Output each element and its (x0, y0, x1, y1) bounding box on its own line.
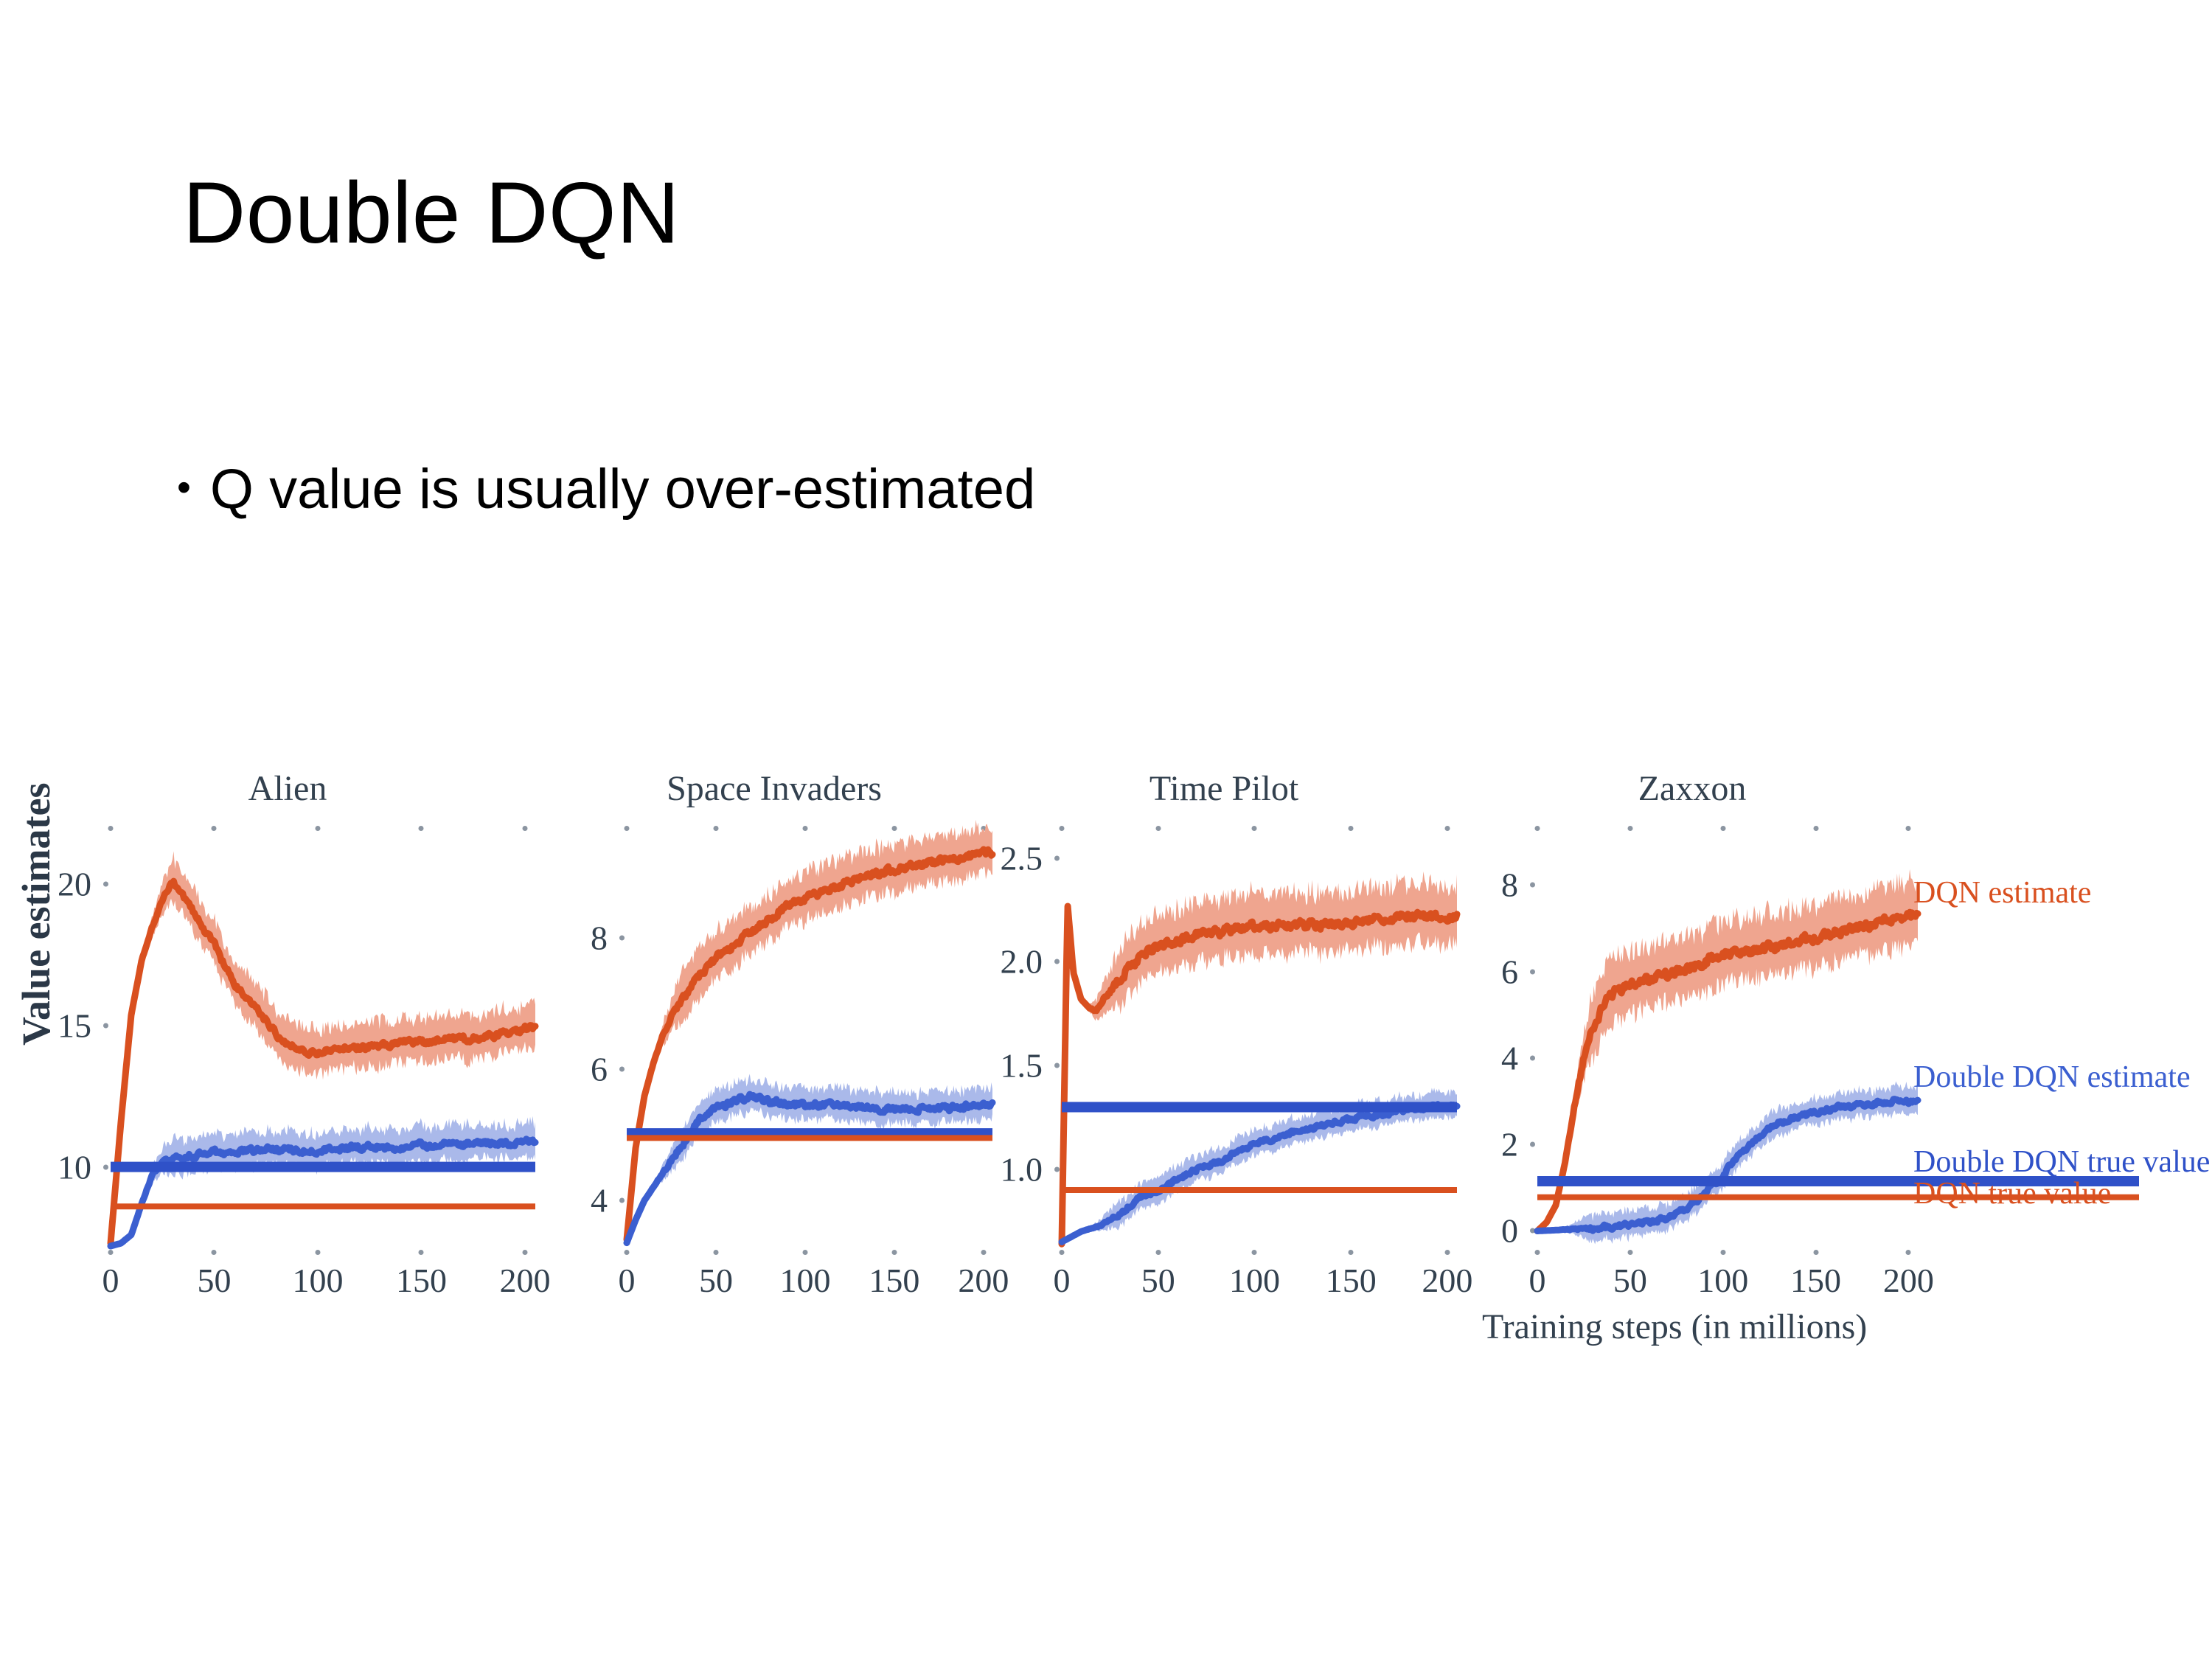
y-tick-label: 8 (591, 919, 608, 958)
x-tick-mark-bottom (522, 1250, 527, 1255)
confidence-band-double_dqn_estimate (627, 1074, 992, 1243)
y-tick-mark (103, 1023, 108, 1028)
x-tick-mark-top (1060, 826, 1065, 831)
x-tick-mark-bottom (1444, 1250, 1450, 1255)
y-tick-mark (1530, 969, 1535, 974)
legend-label-double-dqn-estimate: Double DQN estimate (1913, 1062, 2191, 1093)
y-tick-label: 10 (58, 1147, 91, 1186)
x-tick-mark-bottom (1535, 1250, 1540, 1255)
chart-panel-title: Alien (29, 768, 546, 809)
y-tick-mark (619, 936, 625, 941)
x-tick-label: 0 (102, 1261, 119, 1300)
y-tick-label: 1.5 (1001, 1046, 1043, 1085)
y-tick-label: 2.0 (1001, 942, 1043, 981)
x-tick-mark-bottom (1627, 1250, 1632, 1255)
x-tick-mark-bottom (419, 1250, 424, 1255)
plot-area: 1.01.52.02.5050100150200 (1062, 833, 1457, 1246)
chart-panel-title: Space Invaders (546, 768, 1003, 809)
chart-panel-space-invaders: Space Invaders468050100150200 (546, 752, 1003, 1386)
y-tick-label: 1.0 (1001, 1150, 1043, 1189)
x-tick-label: 150 (1326, 1261, 1377, 1300)
confidence-band-double_dqn_estimate (111, 1116, 535, 1246)
y-tick-mark (103, 1164, 108, 1169)
y-tick-label: 6 (591, 1050, 608, 1089)
x-tick-mark-top (108, 826, 114, 831)
x-tick-mark-top (713, 826, 718, 831)
x-tick-mark-bottom (1252, 1250, 1257, 1255)
plot-curves (111, 833, 535, 1246)
x-tick-mark-bottom (1813, 1250, 1818, 1255)
x-tick-mark-top (1444, 826, 1450, 831)
x-tick-label: 0 (1054, 1261, 1071, 1300)
x-tick-mark-top (891, 826, 897, 831)
x-tick-label: 0 (619, 1261, 636, 1300)
chart-panel-title: Time Pilot (981, 768, 1467, 809)
x-tick-mark-top (1813, 826, 1818, 831)
bullet-item-label: Q value is usually over-estimated (210, 457, 1035, 521)
x-tick-mark-top (522, 826, 527, 831)
x-tick-mark-top (419, 826, 424, 831)
plot-curves (1537, 833, 1918, 1246)
confidence-band-dqn_estimate (111, 851, 535, 1243)
x-tick-label: 200 (1883, 1261, 1934, 1300)
x-tick-mark-top (625, 826, 630, 831)
series-line-double_dqn_estimate (1537, 1099, 1918, 1231)
x-tick-mark-top (1252, 826, 1257, 831)
plot-area: 468050100150200 (627, 833, 992, 1246)
x-tick-mark-bottom (625, 1250, 630, 1255)
plot-area: 101520050100150200 (111, 833, 535, 1246)
plot-curves (627, 833, 992, 1246)
x-tick-mark-top (1627, 826, 1632, 831)
x-tick-mark-bottom (1060, 1250, 1065, 1255)
x-tick-label: 50 (1141, 1261, 1175, 1300)
x-tick-mark-bottom (1720, 1250, 1725, 1255)
legend-label-dqn-estimate: DQN estimate (1913, 877, 2091, 908)
y-tick-mark (103, 882, 108, 887)
y-tick-label: 6 (1501, 952, 1518, 991)
x-tick-label: 0 (1529, 1261, 1546, 1300)
y-tick-mark (1054, 959, 1060, 964)
x-tick-mark-bottom (1906, 1250, 1911, 1255)
x-tick-label: 100 (1697, 1261, 1748, 1300)
y-tick-label: 20 (58, 865, 91, 904)
y-tick-label: 4 (591, 1180, 608, 1220)
chart-panel-time-pilot: Time Pilot1.01.52.02.5050100150200 (981, 752, 1467, 1386)
x-tick-mark-bottom (713, 1250, 718, 1255)
legend-label-double-dqn-true-value: Double DQN true value (1913, 1147, 2210, 1178)
x-tick-mark-top (315, 826, 320, 831)
y-tick-mark (1054, 855, 1060, 860)
plot-curves (1062, 833, 1457, 1246)
y-tick-label: 2 (1501, 1125, 1518, 1164)
x-tick-mark-top (1906, 826, 1911, 831)
x-tick-label: 100 (292, 1261, 343, 1300)
x-tick-label: 100 (779, 1261, 830, 1300)
x-tick-mark-top (1535, 826, 1540, 831)
x-tick-mark-bottom (315, 1250, 320, 1255)
x-tick-label: 150 (396, 1261, 447, 1300)
y-tick-mark (619, 1197, 625, 1203)
chart-panel-title: Zaxxon (1456, 768, 1928, 809)
x-tick-mark-top (212, 826, 217, 831)
x-tick-mark-top (802, 826, 807, 831)
x-tick-label: 150 (869, 1261, 919, 1300)
x-tick-mark-top (1155, 826, 1161, 831)
x-tick-label: 200 (499, 1261, 550, 1300)
confidence-band-dqn_estimate (627, 820, 992, 1239)
x-tick-label: 50 (699, 1261, 733, 1300)
x-tick-mark-top (1349, 826, 1354, 831)
value-estimates-figure: Value estimates Training steps (in milli… (29, 752, 2183, 1416)
bullet-list-item: • Q value is usually over-estimated (177, 457, 1035, 521)
x-tick-mark-bottom (1349, 1250, 1354, 1255)
x-tick-mark-bottom (891, 1250, 897, 1255)
x-tick-mark-bottom (1155, 1250, 1161, 1255)
x-tick-mark-top (1720, 826, 1725, 831)
page-title: Double DQN (183, 168, 680, 260)
chart-panel-alien: Alien101520050100150200 (29, 752, 546, 1386)
y-tick-label: 2.5 (1001, 838, 1043, 877)
y-tick-mark (1054, 1063, 1060, 1068)
y-tick-mark (1530, 1142, 1535, 1147)
x-tick-label: 100 (1229, 1261, 1280, 1300)
chart-panel-zaxxon: Zaxxon02468050100150200 (1456, 752, 1928, 1386)
y-tick-mark (1054, 1166, 1060, 1172)
x-tick-mark-bottom (108, 1250, 114, 1255)
x-tick-mark-bottom (802, 1250, 807, 1255)
legend-label-dqn-true-value: DQN true value (1913, 1178, 2111, 1209)
bullet-marker-icon: • (177, 467, 191, 507)
x-tick-label: 50 (1613, 1261, 1647, 1300)
x-tick-mark-bottom (212, 1250, 217, 1255)
y-tick-label: 8 (1501, 866, 1518, 905)
plot-area: 02468050100150200 (1537, 833, 1918, 1246)
y-tick-mark (1530, 1055, 1535, 1060)
x-tick-label: 50 (197, 1261, 231, 1300)
y-tick-mark (1530, 883, 1535, 888)
y-tick-label: 0 (1501, 1211, 1518, 1251)
y-tick-mark (619, 1067, 625, 1072)
x-tick-label: 150 (1790, 1261, 1841, 1300)
y-tick-label: 15 (58, 1006, 91, 1045)
y-tick-label: 4 (1501, 1038, 1518, 1077)
